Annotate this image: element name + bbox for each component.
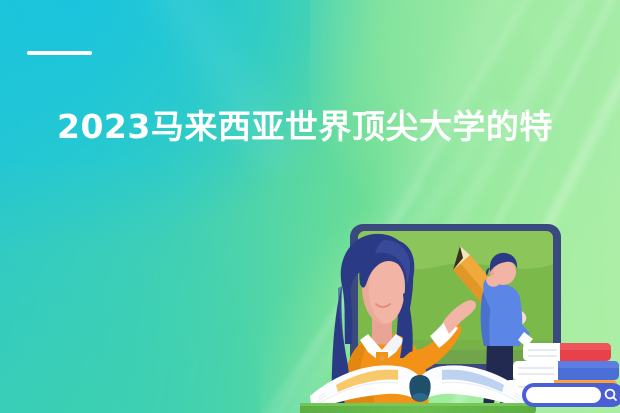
- book-blue: [513, 361, 619, 380]
- shelf-platform: [300, 403, 536, 413]
- headline-divider: [27, 51, 92, 55]
- search-input[interactable]: [526, 387, 601, 403]
- promo-banner: 2023马来西亚世界顶尖大学的特: [0, 0, 620, 413]
- online-education-illustration: [300, 200, 620, 413]
- book-red: [523, 343, 611, 361]
- search-bar[interactable]: [522, 383, 620, 407]
- page-title: 2023马来西亚世界顶尖大学的特: [57, 104, 617, 150]
